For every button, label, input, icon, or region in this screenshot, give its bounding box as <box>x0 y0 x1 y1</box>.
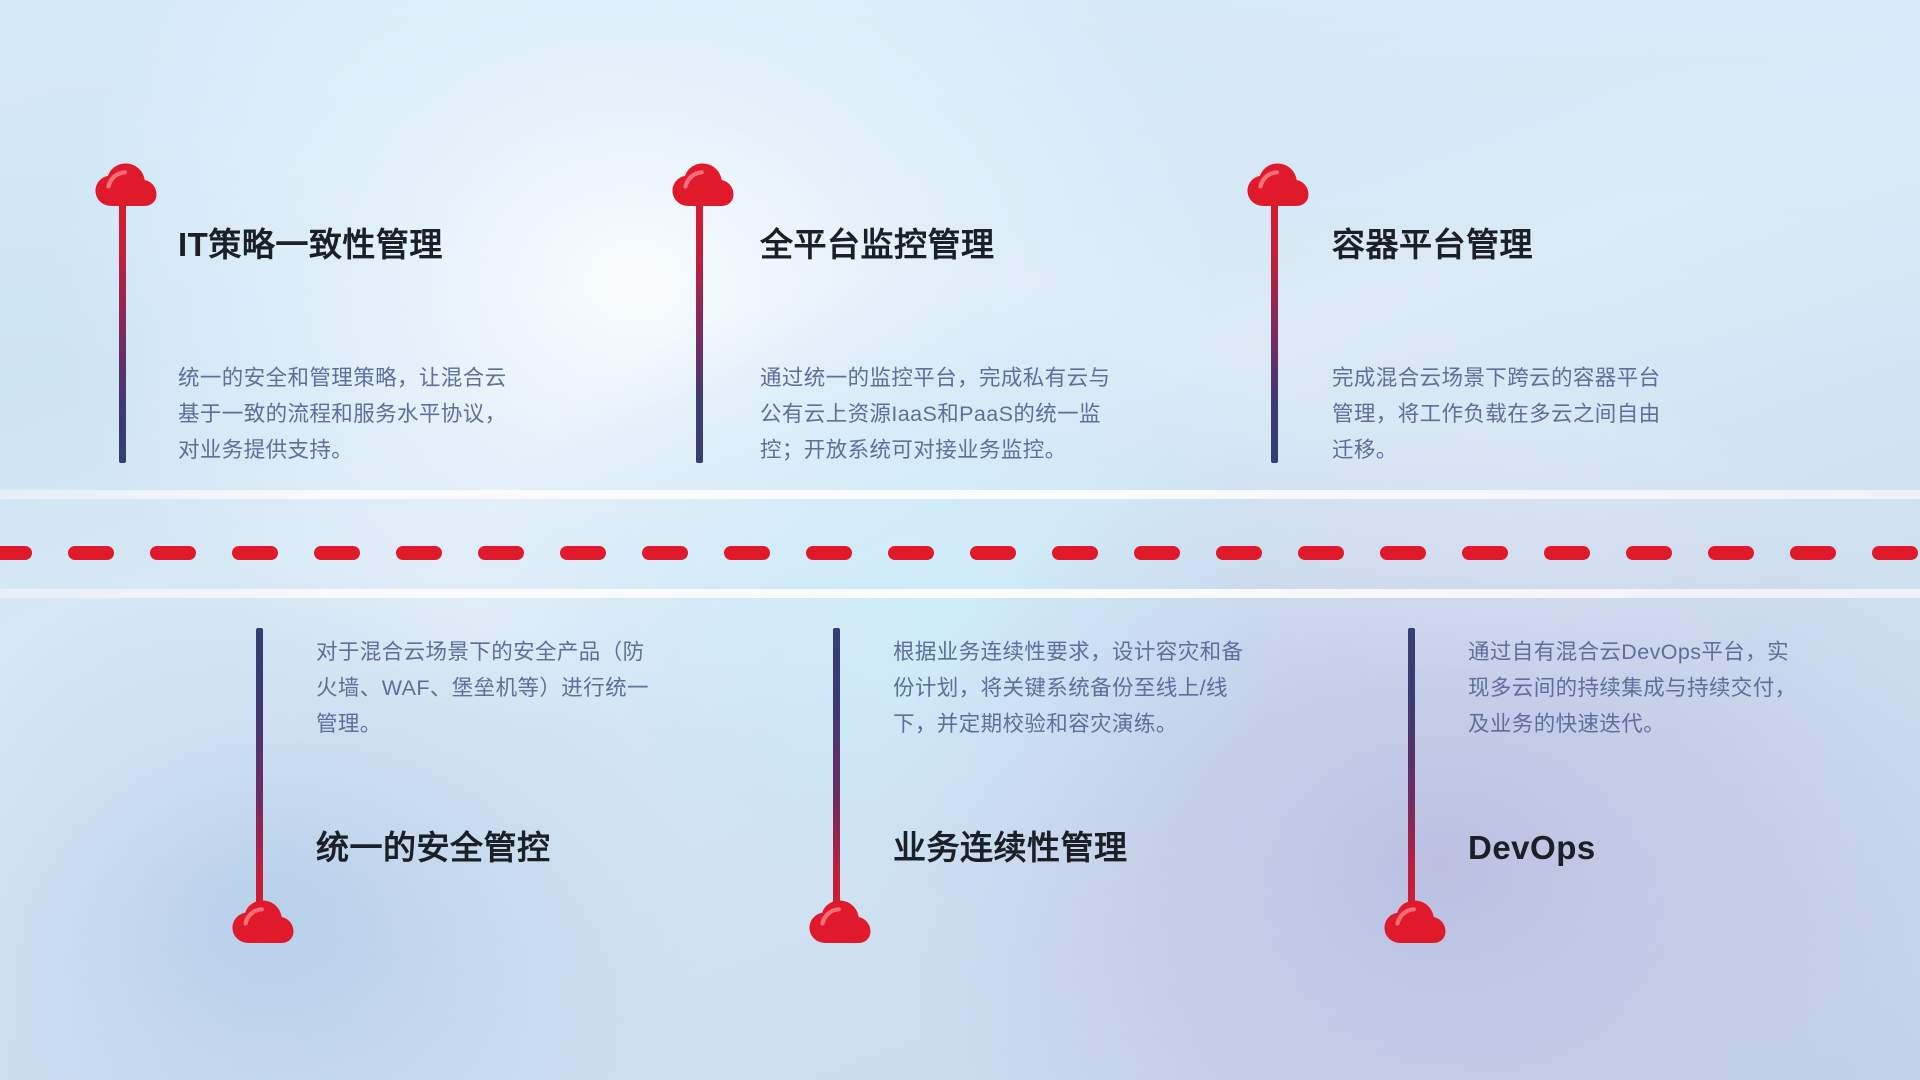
divider-band-bottom <box>0 589 1920 598</box>
divider-dash-segment <box>232 546 278 560</box>
top-card-2-body: 通过统一的监控平台，完成私有云与公有云上资源IaaS和PaaS的统一监控；开放系… <box>760 360 1112 468</box>
bottom-card-3-body: 通过自有混合云DevOps平台，实现多云间的持续集成与持续交付，及业务的快速迭代… <box>1468 634 1808 742</box>
top-card-1-title: IT策略一致性管理 <box>178 225 443 265</box>
divider-dash-segment <box>314 546 360 560</box>
divider-band-top <box>0 490 1920 499</box>
divider-dash-segment <box>888 546 934 560</box>
bottom-card-2-title: 业务连续性管理 <box>893 828 1128 868</box>
divider-dash-segment <box>806 546 852 560</box>
divider-dashed-line <box>0 546 1920 560</box>
divider-dash-segment <box>970 546 1016 560</box>
divider-dash-segment <box>0 546 32 560</box>
divider-dash-segment <box>642 546 688 560</box>
bottom-card-3-title: DevOps <box>1468 828 1596 868</box>
bottom-card-2-body: 根据业务连续性要求，设计容灾和备份计划，将关键系统备份至线上/线下，并定期校验和… <box>893 634 1245 742</box>
connector-line <box>1408 628 1415 916</box>
divider-dash-segment <box>1462 546 1508 560</box>
divider-dash-segment <box>1872 546 1918 560</box>
cloud-icon <box>809 900 871 944</box>
connector-line <box>696 196 703 463</box>
divider-dash-segment <box>1626 546 1672 560</box>
bottom-card-1-title: 统一的安全管控 <box>316 828 551 868</box>
top-card-3-title: 容器平台管理 <box>1332 225 1533 265</box>
cloud-icon <box>672 163 734 207</box>
divider-dash-segment <box>1544 546 1590 560</box>
connector-line <box>833 628 840 916</box>
connector-line <box>119 196 126 463</box>
bottom-card-1-body: 对于混合云场景下的安全产品（防火墙、WAF、堡垒机等）进行统一管理。 <box>316 634 656 742</box>
divider-dash-segment <box>1216 546 1262 560</box>
divider-dash-segment <box>396 546 442 560</box>
cloud-icon <box>95 163 157 207</box>
cloud-icon <box>1247 163 1309 207</box>
divider-dash-segment <box>724 546 770 560</box>
divider-dash-segment <box>1708 546 1754 560</box>
connector-line <box>1271 196 1278 463</box>
cloud-icon <box>1384 900 1446 944</box>
connector-line <box>256 628 263 916</box>
divider-dash-segment <box>1052 546 1098 560</box>
divider-dash-segment <box>1134 546 1180 560</box>
divider-dash-segment <box>478 546 524 560</box>
divider-dash-segment <box>150 546 196 560</box>
divider-dash-segment <box>1380 546 1426 560</box>
top-card-3-body: 完成混合云场景下跨云的容器平台管理，将工作负载在多云之间自由迁移。 <box>1332 360 1672 468</box>
cloud-icon <box>232 900 294 944</box>
divider-dash-segment <box>1298 546 1344 560</box>
top-card-2-title: 全平台监控管理 <box>760 225 995 265</box>
top-card-1-body: 统一的安全和管理策略，让混合云基于一致的流程和服务水平协议，对业务提供支持。 <box>178 360 518 468</box>
divider-dash-segment <box>68 546 114 560</box>
infographic-canvas: IT策略一致性管理 统一的安全和管理策略，让混合云基于一致的流程和服务水平协议，… <box>0 0 1920 1080</box>
divider-dash-segment <box>560 546 606 560</box>
divider-dash-segment <box>1790 546 1836 560</box>
